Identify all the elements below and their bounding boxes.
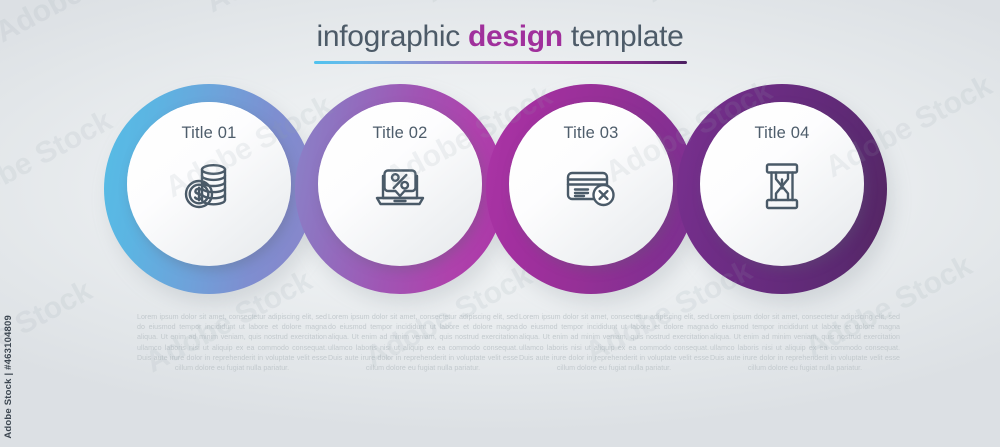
watermark-tile: Adobe Stock — [640, 0, 818, 10]
stacked-coins-dollar-icon — [178, 155, 240, 217]
step-disc-2[interactable]: Title 02 — [318, 102, 482, 266]
watermark-tile: Adobe Stock — [420, 0, 598, 10]
step-title-1: Title 01 — [181, 124, 236, 143]
step-card-4[interactable]: Title 04 — [677, 84, 887, 294]
step-card-3[interactable]: Title 03 — [486, 84, 696, 294]
watermark-tile: Adobe Stock — [860, 0, 1000, 5]
step-disc-4[interactable]: Title 04 — [700, 102, 864, 266]
step-description-3: Lorem ipsum dolor sit amet, consectetur … — [519, 312, 709, 373]
page-title-part1: infographic — [316, 20, 468, 53]
page-title-part2: template — [563, 20, 684, 53]
step-description-4: Lorem ipsum dolor sit amet, consectetur … — [710, 312, 900, 373]
page-title: infographic design template — [0, 22, 1000, 52]
title-gradient-rule — [314, 61, 687, 64]
step-title-4: Title 04 — [754, 124, 809, 143]
credit-card-delete-icon — [560, 155, 622, 217]
descriptions-row: Lorem ipsum dolor sit amet, consectetur … — [0, 312, 1000, 422]
step-title-2: Title 02 — [372, 124, 427, 143]
step-card-1[interactable]: Title 01 — [104, 84, 314, 294]
laptop-percent-discount-icon — [369, 155, 431, 217]
hourglass-icon — [751, 155, 813, 217]
page-title-accent: design — [468, 20, 563, 53]
step-description-1: Lorem ipsum dolor sit amet, consectetur … — [137, 312, 327, 373]
step-description-2: Lorem ipsum dolor sit amet, consectetur … — [328, 312, 518, 373]
step-disc-3[interactable]: Title 03 — [509, 102, 673, 266]
step-title-3: Title 03 — [563, 124, 618, 143]
steps-row: Title 01 — [0, 84, 1000, 294]
step-disc-1[interactable]: Title 01 — [127, 102, 291, 266]
watermark-tile: Adobe Stock — [200, 0, 378, 20]
step-card-2[interactable]: Title 02 — [295, 84, 505, 294]
infographic-canvas: { "header": { "title_part1": "infographi… — [0, 0, 1000, 447]
page-header: infographic design template — [0, 22, 1000, 64]
